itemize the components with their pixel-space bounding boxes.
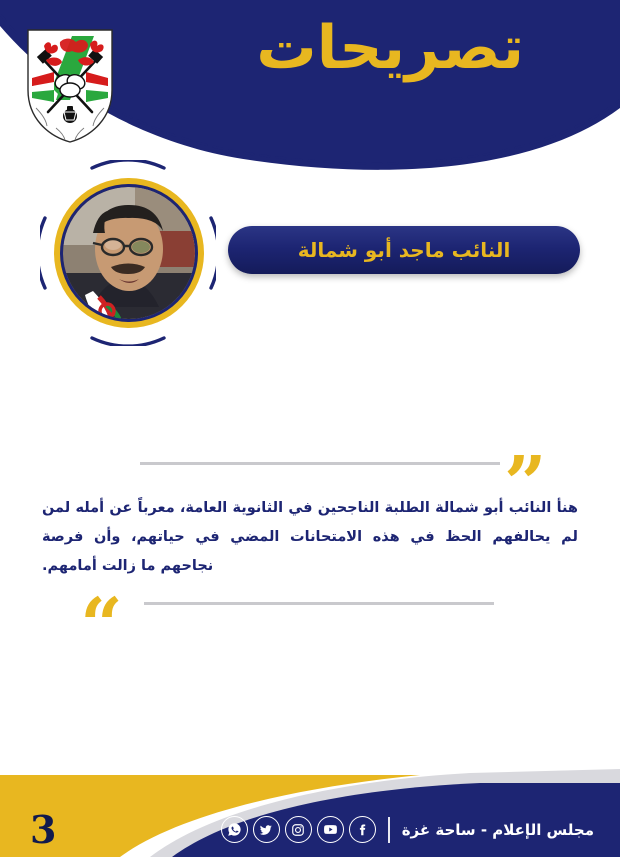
quote-bottom-decoration: ” xyxy=(40,568,560,628)
page-number: 3 xyxy=(30,811,56,849)
footer-bar: 3 مجلس الإعلام - ساحة غزة xyxy=(0,747,620,857)
quote-rule-top xyxy=(140,462,500,465)
fatah-emblem-icon xyxy=(20,24,120,146)
social-links xyxy=(221,816,376,843)
speaker-name: النائب ماجد أبو شمالة xyxy=(298,238,511,262)
speaker-avatar-block xyxy=(40,160,216,346)
whatsapp-icon[interactable] xyxy=(221,816,248,843)
footer-separator xyxy=(388,817,390,843)
avatar-gold-ring xyxy=(54,178,204,328)
avatar-navy-ring xyxy=(60,184,198,322)
footer-label: مجلس الإعلام - ساحة غزة xyxy=(402,821,594,839)
speaker-name-banner: النائب ماجد أبو شمالة xyxy=(228,226,580,274)
footer-content: مجلس الإعلام - ساحة غزة xyxy=(221,816,594,843)
twitter-icon[interactable] xyxy=(253,816,280,843)
instagram-icon[interactable] xyxy=(285,816,312,843)
facebook-icon[interactable] xyxy=(349,816,376,843)
youtube-icon[interactable] xyxy=(317,816,344,843)
avatar xyxy=(63,187,195,319)
page-title: تصريحات xyxy=(256,18,524,78)
statement-card-page: تصريحات xyxy=(0,0,620,857)
quote-rule-bottom xyxy=(144,602,494,605)
quote-top-decoration: ” xyxy=(140,440,580,500)
